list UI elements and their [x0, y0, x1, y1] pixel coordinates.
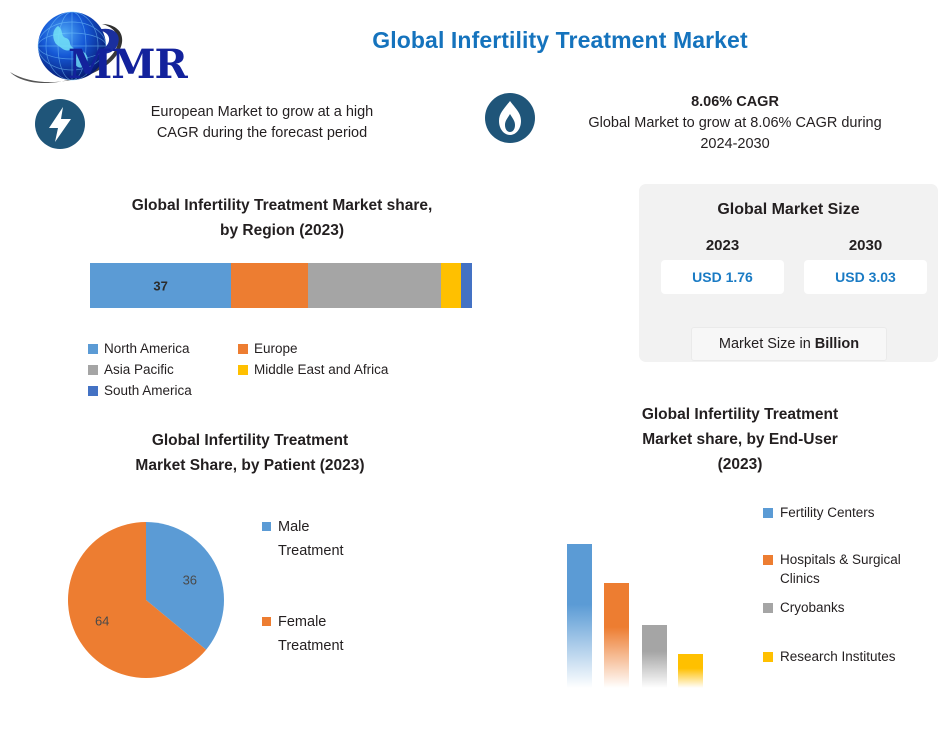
highlight-cagr: 8.06% CAGR Global Market to grow at 8.06…: [484, 92, 939, 155]
region-legend-item: Europe: [238, 341, 488, 356]
region-segment-value: 37: [90, 278, 231, 293]
region-legend-item: Middle East and Africa: [238, 362, 488, 377]
patient-chart-legend: MaleTreatmentFemaleTreatment: [262, 515, 392, 658]
legend-swatch-icon: [763, 603, 773, 613]
enduser-legend-item: Cryobanks: [763, 598, 943, 617]
legend-swatch-icon: [238, 365, 248, 375]
region-segment-north-america: 37: [90, 263, 231, 308]
enduser-title-line-3: (2023): [718, 456, 763, 473]
enduser-bar-hospitals-surgical-clinics: [604, 583, 629, 688]
market-size-unit-note: Market Size in Billion: [691, 327, 887, 361]
region-legend-label: Europe: [254, 341, 298, 356]
patient-legend-item: MaleTreatment: [262, 515, 392, 563]
region-legend-label: North America: [104, 341, 190, 356]
market-size-value-2030: USD 3.03: [804, 260, 927, 294]
region-segment-middle-east-and-africa: [441, 263, 460, 308]
highlight-right-line-2: 2024-2030: [700, 136, 769, 152]
legend-swatch-icon: [88, 386, 98, 396]
region-legend-label: Middle East and Africa: [254, 362, 388, 377]
enduser-bar-cryobanks: [642, 625, 667, 688]
lightning-bolt-icon: [34, 98, 86, 150]
highlight-right-line-1: Global Market to grow at 8.06% CAGR duri…: [588, 115, 881, 131]
region-legend-item: South America: [88, 383, 238, 398]
enduser-title-line-1: Global Infertility Treatment: [642, 406, 838, 423]
legend-swatch-icon: [763, 555, 773, 565]
page-title: Global Infertility Treatment Market: [250, 27, 870, 54]
market-size-unit-prefix: Market Size in: [719, 336, 811, 352]
enduser-legend-label: Research Institutes: [780, 647, 896, 666]
highlight-left-text: European Market to grow at a high CAGR d…: [86, 98, 438, 144]
region-legend-item: Asia Pacific: [88, 362, 238, 377]
patient-chart-title: Global Infertility Treatment Market Shar…: [85, 428, 415, 478]
legend-swatch-icon: [262, 617, 271, 626]
legend-swatch-icon: [262, 522, 271, 531]
patient-chart-block: Global Infertility Treatment Market Shar…: [40, 428, 460, 478]
patient-legend-item: FemaleTreatment: [262, 610, 392, 658]
region-title-line-2: by Region (2023): [220, 222, 344, 239]
region-stacked-bar: 37: [90, 263, 472, 308]
market-size-column-2030: 2030 USD 3.03: [804, 237, 927, 294]
market-size-title: Global Market Size: [639, 201, 938, 219]
highlight-right-text: 8.06% CAGR Global Market to grow at 8.06…: [536, 92, 926, 155]
highlight-european-market: European Market to grow at a high CAGR d…: [34, 98, 454, 150]
legend-swatch-icon: [763, 508, 773, 518]
enduser-title-line-2: Market share, by End-User: [642, 431, 838, 448]
globe-swoosh-logo: MMR: [6, 6, 192, 88]
enduser-legend-item: Fertility Centers: [763, 503, 943, 522]
logo-wordmark: MMR: [68, 41, 189, 88]
region-legend-label: South America: [104, 383, 192, 398]
enduser-chart-block: Global Infertility Treatment Market shar…: [545, 402, 940, 477]
legend-swatch-icon: [88, 365, 98, 375]
market-size-value-2023: USD 1.76: [661, 260, 784, 294]
market-size-column-2023: 2023 USD 1.76: [661, 237, 784, 294]
region-legend-item: North America: [88, 341, 238, 356]
pie-slice-value: 64: [95, 614, 109, 629]
region-legend-label: Asia Pacific: [104, 362, 174, 377]
enduser-bar-fertility-centers: [567, 544, 592, 688]
global-market-size-card: Global Market Size 2023 USD 1.76 2030 US…: [639, 184, 938, 362]
enduser-bar-chart: [563, 530, 723, 688]
legend-swatch-icon: [238, 344, 248, 354]
region-segment-europe: [231, 263, 307, 308]
patient-legend-label: MaleTreatment: [278, 515, 344, 563]
market-size-year-2030: 2030: [804, 237, 927, 254]
enduser-legend-item: Hospitals & SurgicalClinics: [763, 550, 943, 588]
legend-swatch-icon: [763, 652, 773, 662]
region-chart-block: Global Infertility Treatment Market shar…: [62, 193, 502, 243]
region-chart-title: Global Infertility Treatment Market shar…: [82, 193, 482, 243]
legend-swatch-icon: [88, 344, 98, 354]
cagr-value: 8.06% CAGR: [544, 92, 926, 113]
enduser-legend-label: Fertility Centers: [780, 503, 875, 522]
region-segment-asia-pacific: [308, 263, 442, 308]
patient-title-line-2: Market Share, by Patient (2023): [135, 457, 364, 474]
region-title-line-1: Global Infertility Treatment Market shar…: [132, 197, 433, 214]
enduser-legend-item: Research Institutes: [763, 647, 943, 666]
highlight-left-line-1: European Market to grow at a high: [151, 104, 373, 120]
enduser-chart-legend: Fertility CentersHospitals & SurgicalCli…: [763, 503, 943, 666]
enduser-chart-title: Global Infertility Treatment Market shar…: [575, 402, 905, 477]
region-chart-legend: North AmericaEuropeAsia PacificMiddle Ea…: [88, 341, 488, 398]
patient-legend-label: FemaleTreatment: [278, 610, 344, 658]
infographic-canvas: MMR Global Infertility Treatment Market …: [0, 0, 947, 732]
highlight-left-line-2: CAGR during the forecast period: [157, 125, 367, 141]
region-segment-south-america: [461, 263, 472, 308]
enduser-legend-label: Cryobanks: [780, 598, 845, 617]
patient-pie-chart: 3664: [60, 514, 232, 686]
enduser-bar-research-institutes: [678, 654, 703, 688]
pie-slice-value: 36: [183, 572, 197, 587]
flame-icon: [484, 92, 536, 144]
mmr-logo: MMR: [6, 6, 192, 88]
patient-title-line-1: Global Infertility Treatment: [152, 432, 348, 449]
market-size-year-2023: 2023: [661, 237, 784, 254]
enduser-legend-label: Hospitals & SurgicalClinics: [780, 550, 901, 588]
market-size-unit-bold: Billion: [815, 336, 859, 352]
